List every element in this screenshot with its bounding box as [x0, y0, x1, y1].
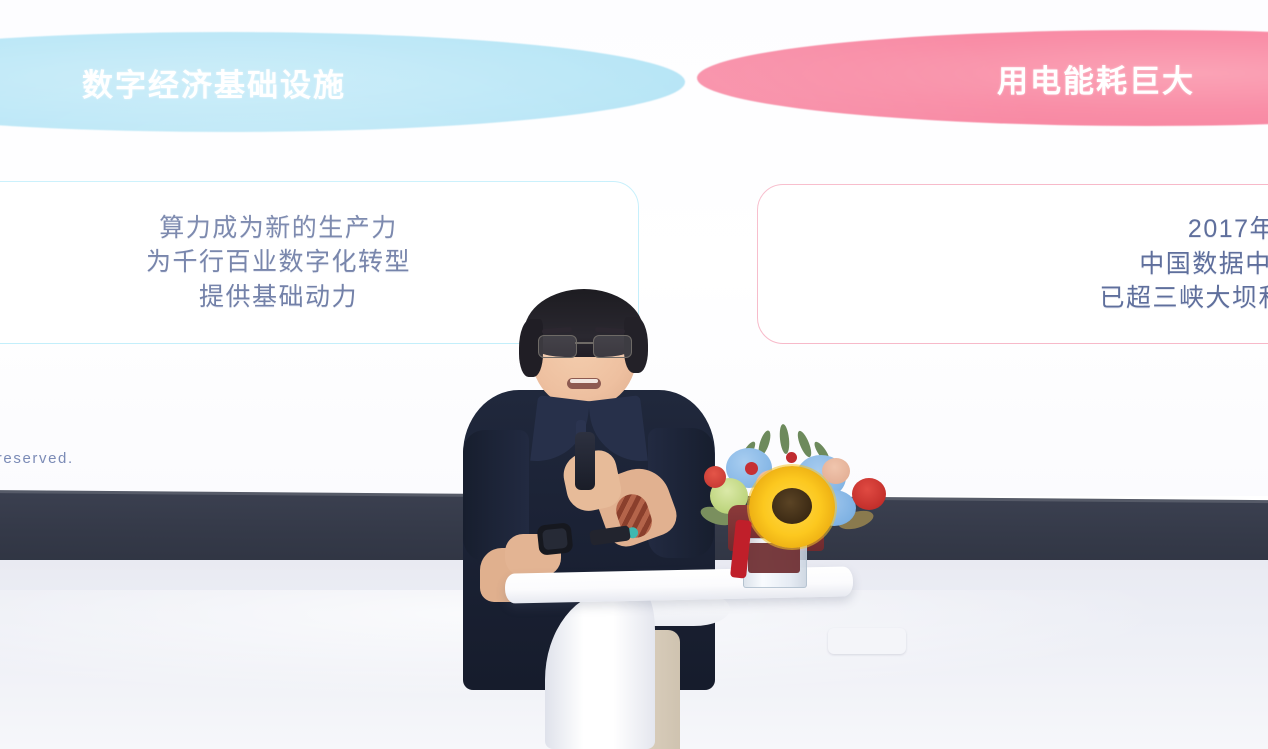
slide-card-pink: 2017年 中国数据中心总 已超三峡大坝和葛洲坝 — [757, 184, 1268, 344]
slide-card-pink-text: 2017年 中国数据中心总 已超三峡大坝和葛洲坝 — [1099, 212, 1268, 316]
red-rose — [852, 478, 886, 510]
glasses-lens-left — [538, 335, 577, 358]
red-berry — [786, 452, 797, 463]
smartwatch — [537, 522, 574, 555]
red-rose — [704, 466, 726, 488]
floor-riser-block — [828, 628, 906, 654]
glasses-bridge — [575, 342, 593, 344]
banner-blue: 数字经济基础设施 — [0, 32, 685, 132]
sunflower-center — [772, 488, 812, 524]
slide-card-blue-text: 算力成为新的生产力 为千行百业数字化转型 提供基础动力 — [146, 211, 411, 315]
peach-bloom — [822, 458, 850, 484]
conference-stage-scene: 数字经济基础设施 用电能耗巨大 算力成为新的生产力 为千行百业数字化转型 提供基… — [0, 0, 1268, 749]
handheld-microphone — [575, 432, 595, 490]
glasses-lens-right — [593, 335, 632, 358]
glasses-icon — [536, 335, 634, 357]
banner-pink-label: 用电能耗巨大 — [997, 56, 1195, 101]
banner-blue-label: 数字经济基础设施 — [82, 60, 346, 105]
red-berry — [745, 462, 758, 475]
slide-copyright: nal. All rights reserved. — [0, 450, 74, 467]
banner-pink: 用电能耗巨大 — [697, 30, 1268, 126]
speaker-mouth — [567, 378, 601, 389]
